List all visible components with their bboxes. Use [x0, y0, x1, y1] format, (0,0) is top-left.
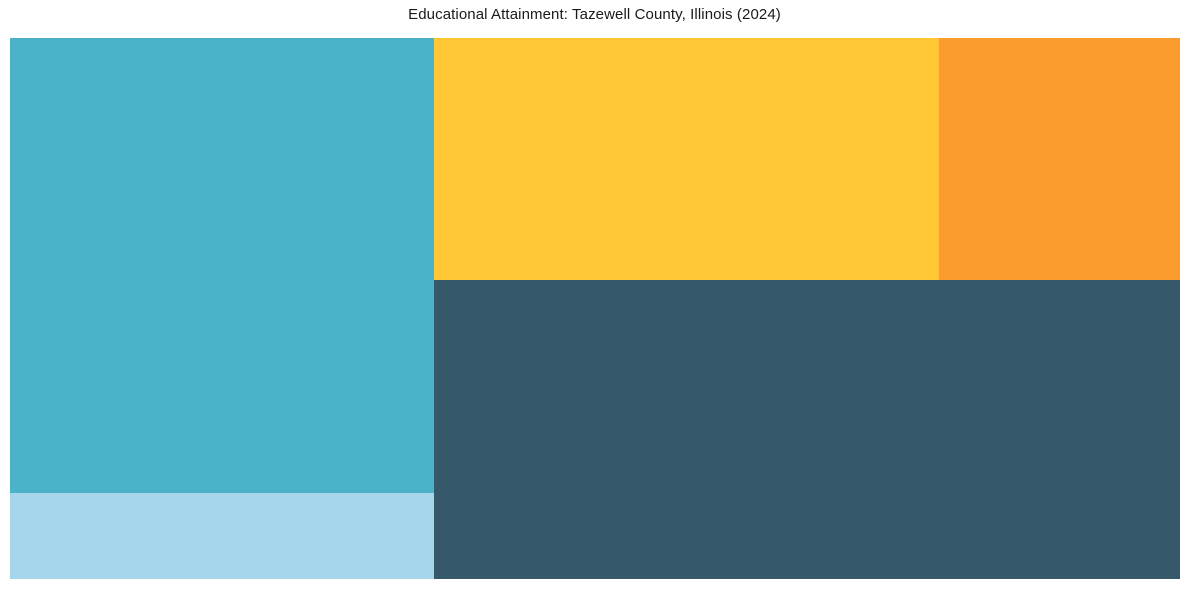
chart-title: Educational Attainment: Tazewell County,…: [0, 6, 1189, 24]
treemap-tile[interactable]: Associate's degree: [939, 38, 1180, 280]
treemap-plot-area: High school graduate (includes equivalen…: [10, 38, 1180, 579]
treemap-tile[interactable]: Some college, no degree: [10, 38, 434, 493]
treemap-tile[interactable]: Graduate or professional degree: [10, 493, 434, 579]
treemap-tile[interactable]: High school graduate (includes equivalen…: [434, 280, 1180, 579]
treemap-figure: Educational Attainment: Tazewell County,…: [0, 0, 1189, 590]
treemap-tile[interactable]: Bachelor's degree: [434, 38, 939, 280]
